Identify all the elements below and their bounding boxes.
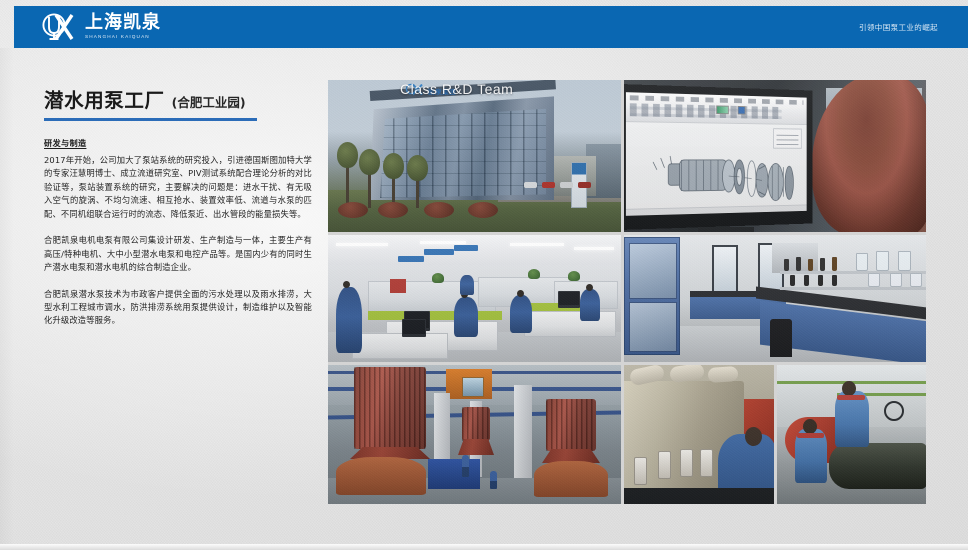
engine-oil-filter <box>700 449 713 477</box>
submersible-pump-unit <box>354 367 426 449</box>
office-employee-head <box>586 284 593 291</box>
lab-glassware <box>856 253 868 271</box>
blue-machine <box>428 459 480 489</box>
crane-operator-cab <box>462 377 484 397</box>
lab-bottle <box>832 275 837 286</box>
office-employee-head <box>517 290 524 297</box>
header-tagline: 引领中国泵工业的崛起 <box>859 22 938 33</box>
hq-shrub <box>378 202 408 218</box>
lab-storage-cabinet <box>624 237 680 355</box>
brand-logo[interactable]: 上海凯泉 SHANGHAI KAIQUAN <box>42 12 161 42</box>
engine-technician-head <box>745 427 762 446</box>
pump-cooling-fins <box>354 367 426 449</box>
diesel-engine-photo <box>624 365 774 504</box>
factory-worker <box>462 455 469 477</box>
body-paragraph-1: 2017年开始，公司加大了泵站系统的研究投入，引进德国斯图加特大学的专家汪慧明博… <box>44 154 312 221</box>
cad-color-swatch-icon[interactable] <box>738 106 746 115</box>
hq-curtain-wall <box>380 106 546 198</box>
cad-design-screen-photo <box>624 80 926 232</box>
lab-reagent-shelf <box>780 271 926 274</box>
photo-collage: 凯泉集团 <box>328 80 926 504</box>
hq-tree <box>416 180 419 208</box>
office-employee <box>336 287 362 353</box>
lab-cabinet-glass-door <box>629 243 677 299</box>
office-red-placard <box>390 279 406 293</box>
brand-wordmark: 上海凯泉 SHANGHAI KAIQUAN <box>85 14 161 39</box>
lab-bottle <box>790 275 795 286</box>
body-paragraph-3: 合肥凯泉潜水泵技术为市政客户提供全面的污水处理以及雨水排涝，大型水利工程城市调水… <box>44 288 312 328</box>
cad-color-swatch-icon[interactable] <box>716 105 729 114</box>
laboratory-photo <box>624 235 926 362</box>
text-column: 潜水用泵工厂 (合肥工业园) 研发与制造 2017年开始，公司加大了泵站系统的研… <box>44 84 312 328</box>
engine-oil-filter <box>680 449 693 477</box>
desk-green-panel <box>368 311 502 320</box>
lab-chair <box>770 319 792 357</box>
hq-car <box>524 182 537 188</box>
lab-bottle <box>832 257 837 271</box>
cad-feature-tree-items <box>777 132 799 145</box>
lab-glassware <box>868 273 880 287</box>
ceiling-light <box>336 243 388 246</box>
office-employee <box>510 295 532 333</box>
pump-cooling-fins <box>462 407 490 441</box>
large-submersible-pumps-photo <box>328 365 621 504</box>
factory-worker <box>490 471 497 489</box>
office-desk <box>524 311 616 337</box>
hq-shrub <box>468 202 498 218</box>
cad-monitor-stand <box>698 227 754 232</box>
cad-engineer-silhouette <box>812 80 926 232</box>
title-underline-rule <box>44 118 257 121</box>
engine-oil-filter <box>634 457 647 485</box>
hq-shrub <box>338 202 368 218</box>
office-monitor <box>402 319 426 337</box>
collage-overlay-caption: Class R&D Team <box>400 81 513 97</box>
office-plant <box>568 271 580 281</box>
lab-glassware <box>898 251 911 271</box>
header-bar: 上海凯泉 SHANGHAI KAIQUAN 引领中国泵工业的崛起 <box>14 6 968 48</box>
section-subheading: 研发与制造 <box>44 137 312 149</box>
lab-glassware <box>910 273 922 287</box>
worker-collar <box>837 395 865 400</box>
department-banner <box>398 256 424 262</box>
office-employee <box>454 297 478 337</box>
brand-name-en: SHANGHAI KAIQUAN <box>85 34 163 40</box>
office-plant <box>432 273 444 283</box>
headquarters-building-photo: 凯泉集团 <box>328 80 621 232</box>
pump-assembly-workers-photo <box>777 365 926 504</box>
engine-oil-filter <box>658 451 671 479</box>
office-employee <box>580 289 600 321</box>
ceiling-light <box>420 241 466 244</box>
hq-shrub <box>424 202 454 218</box>
hq-car <box>542 182 555 188</box>
hq-car <box>578 182 591 188</box>
page-title: 潜水用泵工厂 (合肥工业园) <box>44 84 312 113</box>
engine-skid-rail <box>624 488 774 504</box>
ceiling-light <box>510 243 564 246</box>
pump-pedestal-base <box>336 457 426 495</box>
hq-car <box>560 182 573 188</box>
assembly-worker-head <box>842 381 856 396</box>
engine-exhaust-pipe <box>708 366 739 383</box>
department-banner <box>454 245 478 251</box>
ceiling-light <box>574 247 614 250</box>
department-banner <box>424 249 454 255</box>
hq-tree <box>368 174 371 208</box>
assembly-worker-head <box>803 419 817 434</box>
dark-pump-body <box>829 443 926 489</box>
submersible-pump-unit <box>546 399 596 451</box>
lab-bottle <box>796 257 801 271</box>
lab-bottle <box>808 259 813 271</box>
slide-canvas: 上海凯泉 SHANGHAI KAIQUAN 引领中国泵工业的崛起 潜水用泵工厂 … <box>0 0 968 550</box>
office-employee <box>460 275 474 295</box>
office-employee-head <box>343 281 350 288</box>
lab-glassware <box>876 251 889 271</box>
lab-bottle <box>820 258 825 271</box>
lab-glassware <box>890 273 902 287</box>
body-paragraph-2: 合肥凯泉电机电泵有限公司集设计研发、生产制造与一体，主要生产有高压/特种电机、大… <box>44 234 312 274</box>
cad-feature-tree-panel[interactable] <box>773 128 802 149</box>
page-title-main: 潜水用泵工厂 <box>44 84 165 113</box>
lab-reagent-shelf <box>780 287 926 290</box>
rnd-office-photo <box>328 235 621 362</box>
lab-bottle <box>818 275 823 286</box>
kaiquan-logo-icon <box>42 12 76 42</box>
pump-discharge-cone <box>458 439 494 455</box>
pump-cooling-fins <box>546 399 596 451</box>
submersible-pump-unit <box>462 407 490 441</box>
cad-tool-icons[interactable] <box>630 103 782 119</box>
brand-name-cn: 上海凯泉 <box>85 14 161 33</box>
cad-screen <box>626 92 807 216</box>
office-plant <box>528 269 540 279</box>
page-title-sub: (合肥工业园) <box>172 92 246 111</box>
cad-ribbon-toolbar[interactable] <box>626 92 807 125</box>
lab-bottle <box>784 259 789 271</box>
pump-pedestal-base <box>534 461 608 497</box>
office-monitor <box>558 291 580 308</box>
cad-monitor <box>624 84 812 230</box>
lab-cabinet-glass-door <box>629 302 677 352</box>
worker-collar <box>797 433 824 438</box>
factory-column <box>514 385 532 481</box>
office-desk <box>352 333 448 359</box>
valve-handwheel-icon <box>884 401 904 421</box>
lab-bottle <box>804 275 809 286</box>
